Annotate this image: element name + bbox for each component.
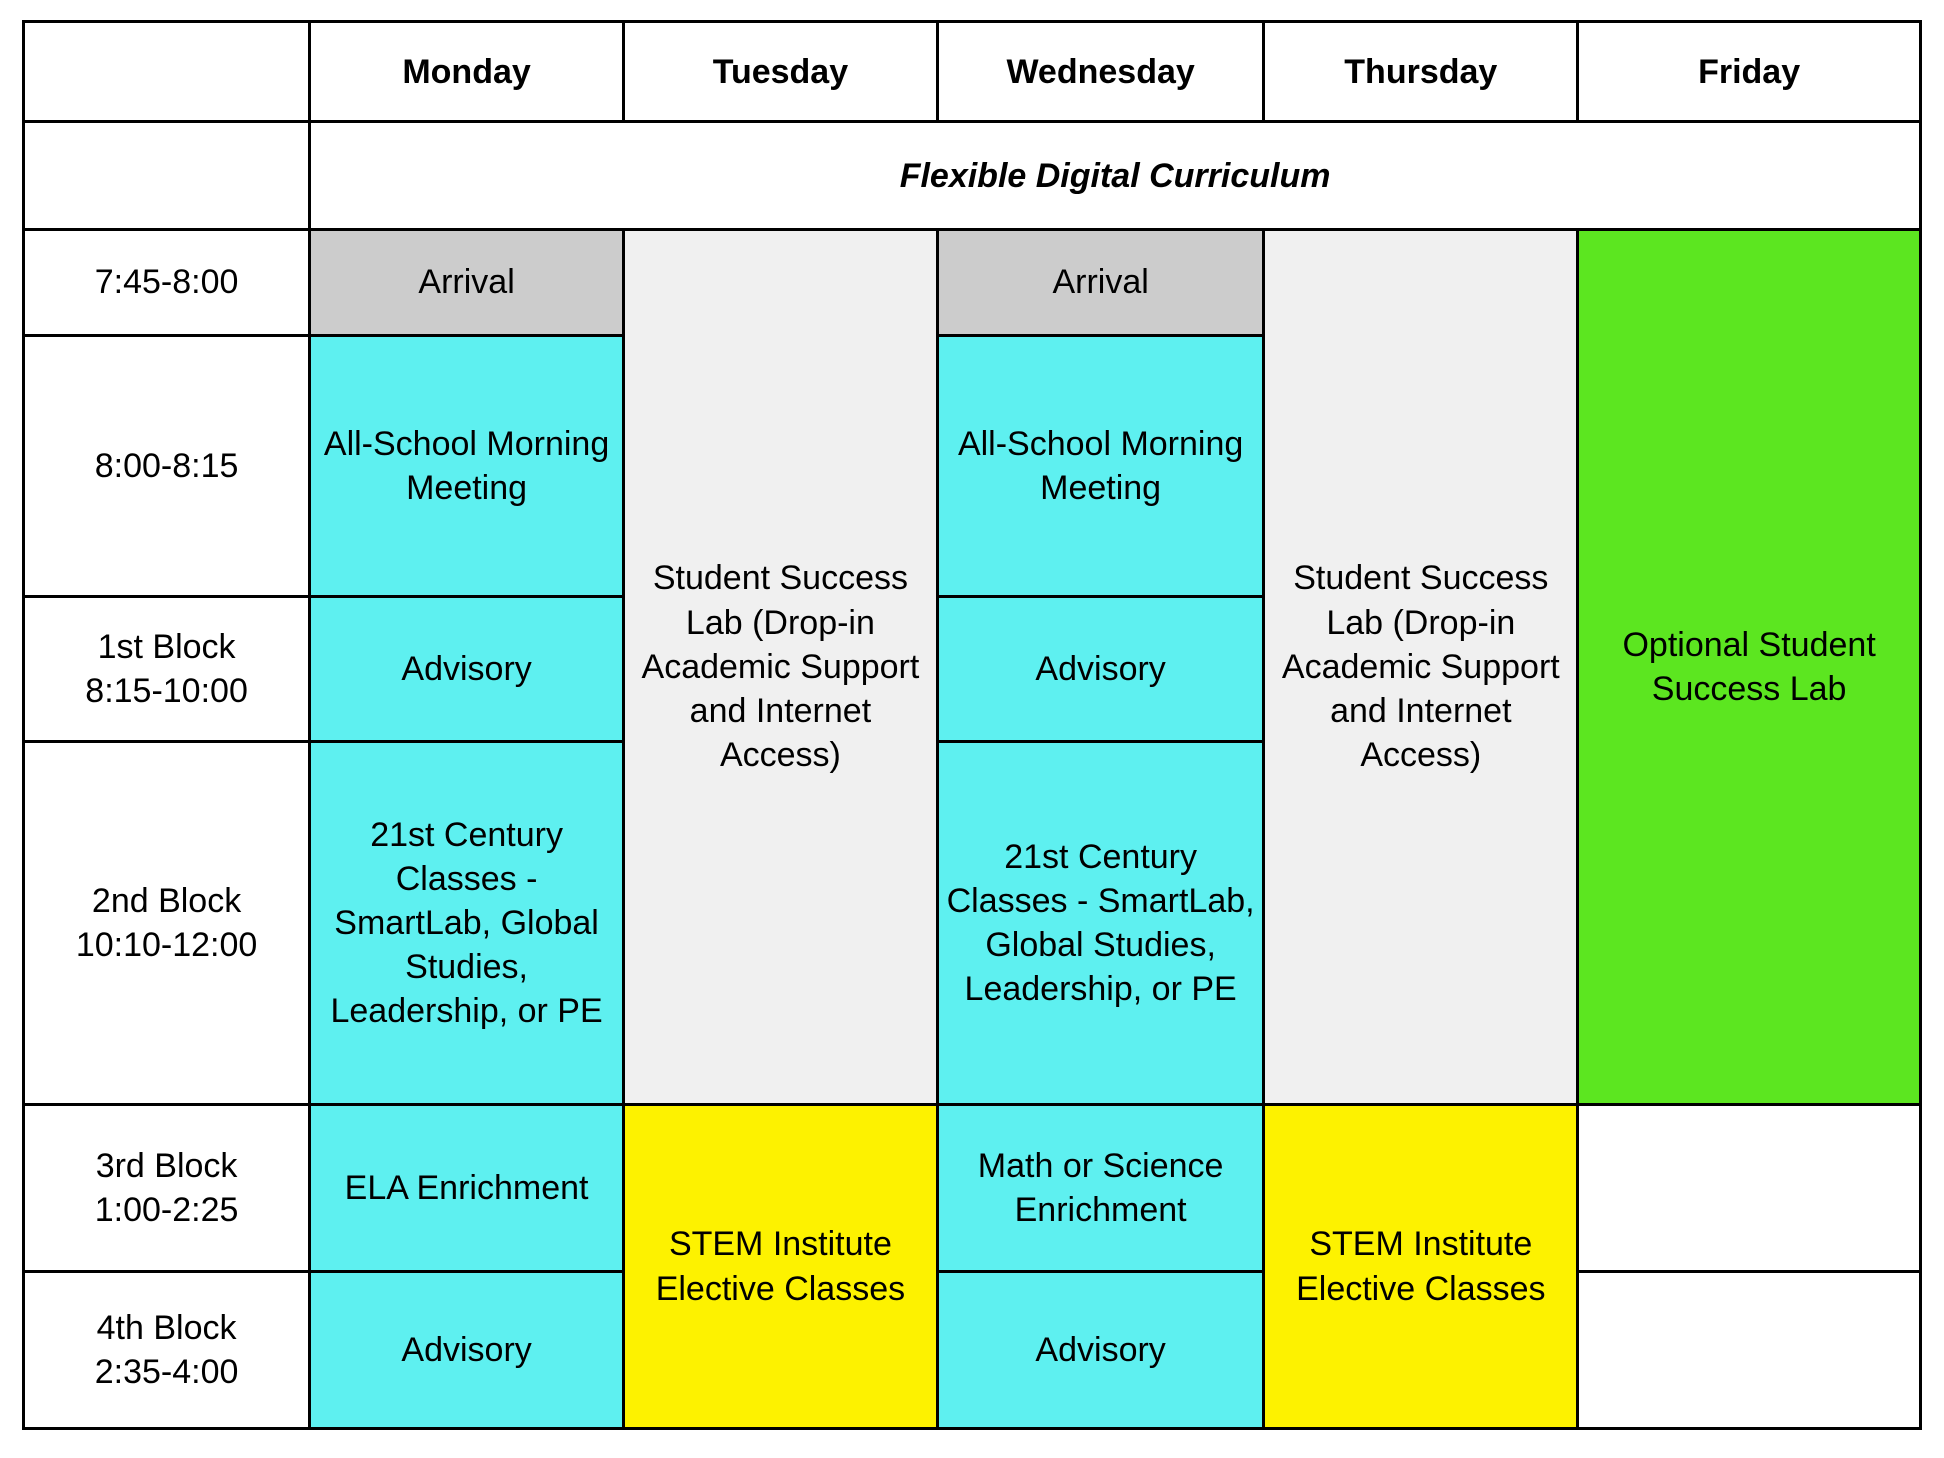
- cell-monday-arrival: Arrival: [310, 229, 624, 335]
- time-label-0800: 8:00-8:15: [24, 336, 310, 597]
- time-label-block4-line2: 2:35-4:00: [95, 1353, 239, 1391]
- time-label-block1: 1st Block 8:15-10:00: [24, 597, 310, 742]
- table-header-row: Monday Tuesday Wednesday Thursday Friday: [24, 22, 1921, 122]
- banner-row: Flexible Digital Curriculum: [24, 122, 1921, 230]
- time-label-block4: 4th Block 2:35-4:00: [24, 1271, 310, 1428]
- cell-monday-advisory-1: Advisory: [310, 597, 624, 742]
- time-label-block3-line2: 1:00-2:25: [95, 1191, 239, 1229]
- cell-friday-optional-student-success-lab: Optional Student Success Lab: [1578, 229, 1921, 1104]
- cell-thursday-student-success-lab: Student Success Lab (Drop-in Academic Su…: [1264, 229, 1578, 1104]
- header-cell-monday: Monday: [310, 22, 624, 122]
- weekly-schedule-table: Monday Tuesday Wednesday Thursday Friday…: [22, 20, 1922, 1430]
- header-cell-wednesday: Wednesday: [937, 22, 1264, 122]
- time-label-block1-line2: 8:15-10:00: [85, 672, 248, 710]
- cell-wednesday-21st-century: 21st Century Classes - SmartLab, Global …: [937, 742, 1264, 1105]
- cell-wednesday-morning-meeting: All-School Morning Meeting: [937, 336, 1264, 597]
- table-row-block3: 3rd Block 1:00-2:25 ELA Enrichment STEM …: [24, 1105, 1921, 1272]
- cell-wednesday-advisory-1: Advisory: [937, 597, 1264, 742]
- cell-monday-ela-enrichment: ELA Enrichment: [310, 1105, 624, 1272]
- table-row-block4: 4th Block 2:35-4:00 Advisory Advisory: [24, 1271, 1921, 1428]
- header-cell-thursday: Thursday: [1264, 22, 1578, 122]
- header-cell-tuesday: Tuesday: [624, 22, 938, 122]
- schedule-sheet: Monday Tuesday Wednesday Thursday Friday…: [0, 0, 1944, 1458]
- flexible-digital-curriculum-banner: Flexible Digital Curriculum: [310, 122, 1921, 230]
- cell-tuesday-student-success-lab: Student Success Lab (Drop-in Academic Su…: [624, 229, 938, 1104]
- time-label-block2-line1: 2nd Block: [92, 882, 241, 920]
- header-cell-blank: [24, 22, 310, 122]
- time-label-block3-line1: 3rd Block: [96, 1147, 238, 1185]
- time-label-block2: 2nd Block 10:10-12:00: [24, 742, 310, 1105]
- cell-monday-21st-century: 21st Century Classes - SmartLab, Global …: [310, 742, 624, 1105]
- time-label-block3: 3rd Block 1:00-2:25: [24, 1105, 310, 1272]
- banner-blank-cell: [24, 122, 310, 230]
- cell-tuesday-stem-institute: STEM Institute Elective Classes: [624, 1105, 938, 1429]
- time-label-block4-line1: 4th Block: [97, 1309, 237, 1347]
- time-label-block2-line2: 10:10-12:00: [76, 926, 258, 964]
- cell-monday-advisory-2: Advisory: [310, 1271, 624, 1428]
- time-label-0745: 7:45-8:00: [24, 229, 310, 335]
- cell-friday-block3-empty: [1578, 1105, 1921, 1272]
- cell-thursday-stem-institute: STEM Institute Elective Classes: [1264, 1105, 1578, 1429]
- table-row-0745: 7:45-8:00 Arrival Student Success Lab (D…: [24, 229, 1921, 335]
- cell-wednesday-arrival: Arrival: [937, 229, 1264, 335]
- cell-monday-morning-meeting: All-School Morning Meeting: [310, 336, 624, 597]
- cell-wednesday-math-science-enrichment: Math or Science Enrichment: [937, 1105, 1264, 1272]
- header-cell-friday: Friday: [1578, 22, 1921, 122]
- cell-wednesday-advisory-2: Advisory: [937, 1271, 1264, 1428]
- cell-friday-block4-empty: [1578, 1271, 1921, 1428]
- time-label-block1-line1: 1st Block: [98, 628, 236, 666]
